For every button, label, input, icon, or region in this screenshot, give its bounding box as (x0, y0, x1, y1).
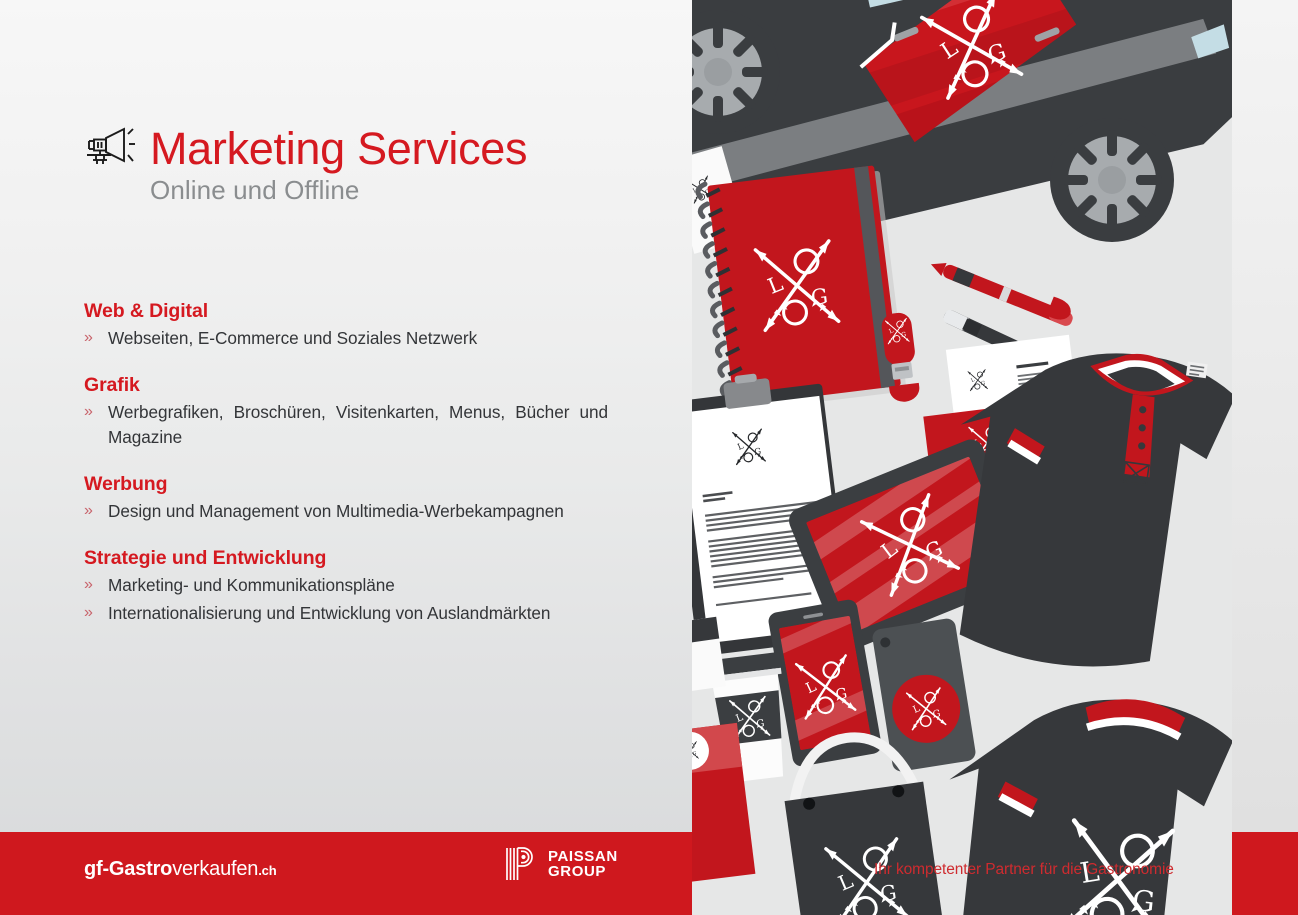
service-item-text: Webseiten, E-Commerce und Soziales Netzw… (108, 326, 608, 351)
service-item: » Werbegrafiken, Broschüren, Visitenkart… (84, 400, 608, 451)
service-item-text: Marketing- und Kommunikationspläne (108, 573, 608, 598)
service-item: » Webseiten, E-Commerce und Soziales Net… (84, 326, 608, 351)
footer-brand: gf-Gastroverkaufen.ch (84, 858, 276, 881)
branding-mockup-image: L G (692, 0, 1232, 915)
image-tagline: Ihr kompetenter Partner für die Gastrono… (874, 861, 1174, 879)
poster-page: Marketing Services Online und Offline We… (0, 0, 1298, 915)
service-heading: Strategie und Entwicklung (84, 547, 608, 571)
paissan-logo-line2: GROUP (548, 864, 618, 879)
service-item-text: Design und Management von Multimedia-Wer… (108, 499, 608, 524)
paissan-group-wordmark: PAISSAN GROUP (548, 849, 618, 880)
footer-brand-bold: gf-Gastro (84, 858, 172, 880)
service-heading: Grafik (84, 374, 608, 398)
service-heading: Web & Digital (84, 300, 608, 324)
service-block: Grafik » Werbegrafiken, Broschüren, Visi… (84, 374, 608, 450)
paissan-logo-line1: PAISSAN (548, 849, 618, 864)
mockup-scene: L G (692, 0, 1232, 915)
guillemet-bullet-icon: » (84, 499, 108, 524)
car-wheel-rear (1050, 118, 1174, 242)
guillemet-bullet-icon: » (84, 601, 108, 626)
right-gutter (1232, 0, 1298, 915)
page-title: Marketing Services (150, 126, 527, 171)
guillemet-bullet-icon: » (84, 573, 108, 598)
guillemet-bullet-icon: » (84, 326, 108, 351)
left-content-panel: Marketing Services Online und Offline We… (0, 0, 692, 915)
corner-red-block (1232, 832, 1298, 915)
service-item-text: Werbegrafiken, Broschüren, Visitenkarten… (108, 400, 608, 451)
paissan-p-mark-icon (504, 845, 540, 883)
page-title-block: Marketing Services Online und Offline (84, 124, 527, 206)
page-subtitle: Online und Offline (150, 175, 527, 206)
guillemet-bullet-icon: » (84, 400, 108, 425)
service-item: » Design und Management von Multimedia-W… (84, 499, 608, 524)
service-block: Werbung » Design und Management von Mult… (84, 473, 608, 524)
title-row: Marketing Services (84, 124, 527, 172)
service-block: Strategie und Entwicklung » Marketing- u… (84, 547, 608, 625)
service-item-text: Internationalisierung und Entwicklung vo… (108, 601, 608, 626)
service-item: » Internationalisierung und Entwicklung … (84, 601, 608, 626)
service-block: Web & Digital » Webseiten, E-Commerce un… (84, 300, 608, 351)
service-item: » Marketing- und Kommunikationspläne (84, 573, 608, 598)
megaphone-icon (84, 124, 136, 172)
service-heading: Werbung (84, 473, 608, 497)
paissan-group-logo: PAISSAN GROUP (504, 845, 618, 883)
services-list: Web & Digital » Webseiten, E-Commerce un… (84, 300, 608, 626)
footer-brand-tld: .ch (258, 863, 276, 878)
footer-brand-light: verkaufen (172, 858, 258, 880)
